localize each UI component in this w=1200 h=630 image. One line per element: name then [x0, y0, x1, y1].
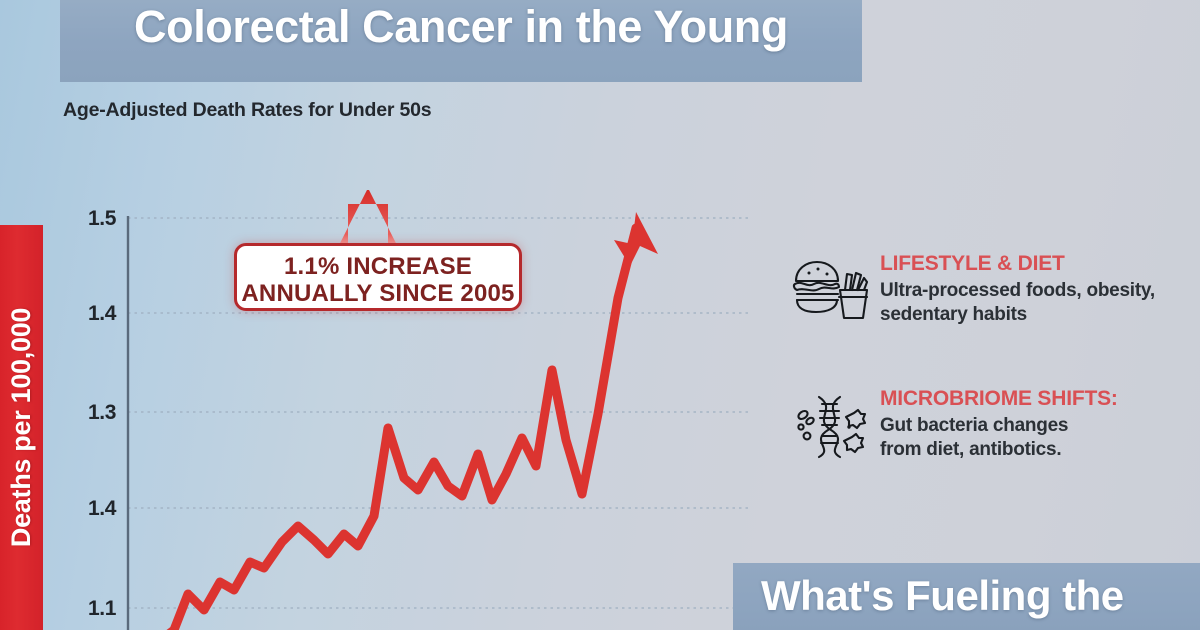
chart-subtitle: Age-Adjusted Death Rates for Under 50s: [63, 99, 431, 122]
y-axis-title-label: Deaths per 100,000: [0, 225, 43, 630]
cause-body: Ultra-processed foods, obesity, sedentar…: [880, 279, 1155, 327]
cause-text-lifestyle-diet: LIFESTYLE & DIET Ultra-processed foods, …: [880, 248, 1155, 327]
causes-list: LIFESTYLE & DIET Ultra-processed foods, …: [792, 248, 1192, 518]
infographic-poster: Colorectal Cancer in the Young Age-Adjus…: [0, 0, 1200, 630]
cause-item-microbiome-shifts: MICROBRIOME SHIFTS: Gut bacteria changes…: [792, 383, 1192, 462]
cause-body-line: from diet, antibotics.: [880, 438, 1118, 462]
cause-heading: LIFESTYLE & DIET: [880, 252, 1155, 276]
callout-line-1: 1.1% INCREASE: [237, 253, 519, 280]
cause-body: Gut bacteria changes from diet, antiboti…: [880, 414, 1118, 462]
y-axis-title-bar: Deaths per 100,000: [0, 225, 43, 630]
cause-text-microbiome-shifts: MICROBRIOME SHIFTS: Gut bacteria changes…: [880, 383, 1118, 462]
callout-line-2: ANNUALLY SINCE 2005: [237, 280, 519, 307]
cause-heading: MICROBRIOME SHIFTS:: [880, 387, 1118, 411]
footer-title: What's Fueling the: [761, 572, 1124, 620]
annotation-callout: 1.1% INCREASE ANNUALLY SINCE 2005: [234, 243, 522, 311]
cause-body-line: sedentary habits: [880, 303, 1155, 327]
trend-arrowhead: [614, 212, 658, 266]
cause-item-lifestyle-diet: LIFESTYLE & DIET Ultra-processed foods, …: [792, 248, 1192, 327]
dna-microbes-icon: [792, 391, 868, 461]
page-title: Colorectal Cancer in the Young: [60, 0, 862, 58]
burger-fries-icon: [792, 256, 868, 326]
cause-body-line: Gut bacteria changes: [880, 414, 1118, 438]
cause-body-line: Ultra-processed foods, obesity,: [880, 279, 1155, 303]
